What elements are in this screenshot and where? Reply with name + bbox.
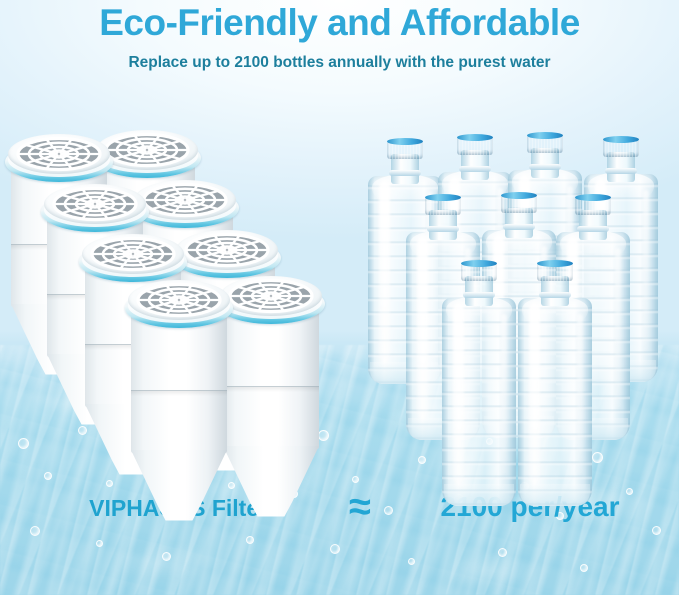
filter-top-cap <box>82 234 184 274</box>
filter-cartridge <box>124 278 234 508</box>
bottle-body <box>518 298 592 506</box>
bottle-neck-ring <box>605 168 637 174</box>
water-bottle <box>518 262 592 512</box>
filter-grille-icon <box>44 184 146 224</box>
bottle-highlight <box>453 304 464 484</box>
bottle-cap-top <box>425 194 461 201</box>
bubble-icon <box>44 472 52 480</box>
bottle-highlight-secondary <box>501 314 507 474</box>
bottle-highlight <box>379 182 390 362</box>
bubble-icon <box>330 544 340 554</box>
bottle-highlight <box>529 304 540 484</box>
bottle-neck-ring <box>539 292 571 298</box>
bubble-icon <box>580 564 588 572</box>
bottle-neck-ring <box>503 224 535 230</box>
bottle-highlight-secondary <box>615 248 621 408</box>
filter-top-cap <box>8 134 110 174</box>
filter-seam <box>131 390 227 400</box>
bottle-highlight-secondary <box>577 314 583 474</box>
page-subtitle: Replace up to 2100 bottles annually with… <box>0 52 679 74</box>
bottle-cap-top <box>603 136 639 143</box>
filter-top-cap <box>128 280 230 320</box>
bottle-neck-ring <box>529 164 561 170</box>
filter-grille-icon <box>8 134 110 174</box>
filter-grille-icon <box>176 230 278 270</box>
bottle-neck-ring <box>459 166 491 172</box>
approximately-equal-icon: ≈ <box>325 484 395 530</box>
filter-top-cap <box>220 276 322 316</box>
bottle-neck-ring <box>389 170 421 176</box>
bubble-icon <box>162 552 171 561</box>
bottle-body <box>442 298 516 506</box>
filter-top-cap <box>44 184 146 224</box>
bottle-neck-ring <box>427 226 459 232</box>
bubble-icon <box>498 548 507 557</box>
filter-seam <box>223 386 319 396</box>
bottle-cap-top <box>457 134 493 141</box>
filter-grille-icon <box>128 280 230 320</box>
bottle-cap-top <box>461 260 497 267</box>
bottle-neck-ring <box>577 226 609 232</box>
bottle-cap-top <box>387 138 423 145</box>
product-infographic-poster: Eco-Friendly and Affordable Replace up t… <box>0 0 679 595</box>
bubble-icon <box>106 480 113 487</box>
bottle-base <box>444 484 514 506</box>
bottle-base <box>520 484 590 506</box>
bubble-icon <box>246 536 254 544</box>
bottle-cap-top <box>527 132 563 139</box>
filter-grille-icon <box>220 276 322 316</box>
bottle-highlight-secondary <box>643 190 649 350</box>
page-title: Eco-Friendly and Affordable <box>0 2 679 44</box>
bubble-icon <box>96 540 103 547</box>
bottle-cap-top <box>501 192 537 199</box>
filter-top-cap <box>176 230 278 270</box>
bottle-neck-ring <box>463 292 495 298</box>
bubble-icon <box>408 558 415 565</box>
bottle-cap-top <box>537 260 573 267</box>
filter-grille-icon <box>82 234 184 274</box>
water-bottle <box>442 262 516 512</box>
bottle-cap-top <box>575 194 611 201</box>
bubble-icon <box>352 476 359 483</box>
bottle-highlight <box>417 238 428 418</box>
